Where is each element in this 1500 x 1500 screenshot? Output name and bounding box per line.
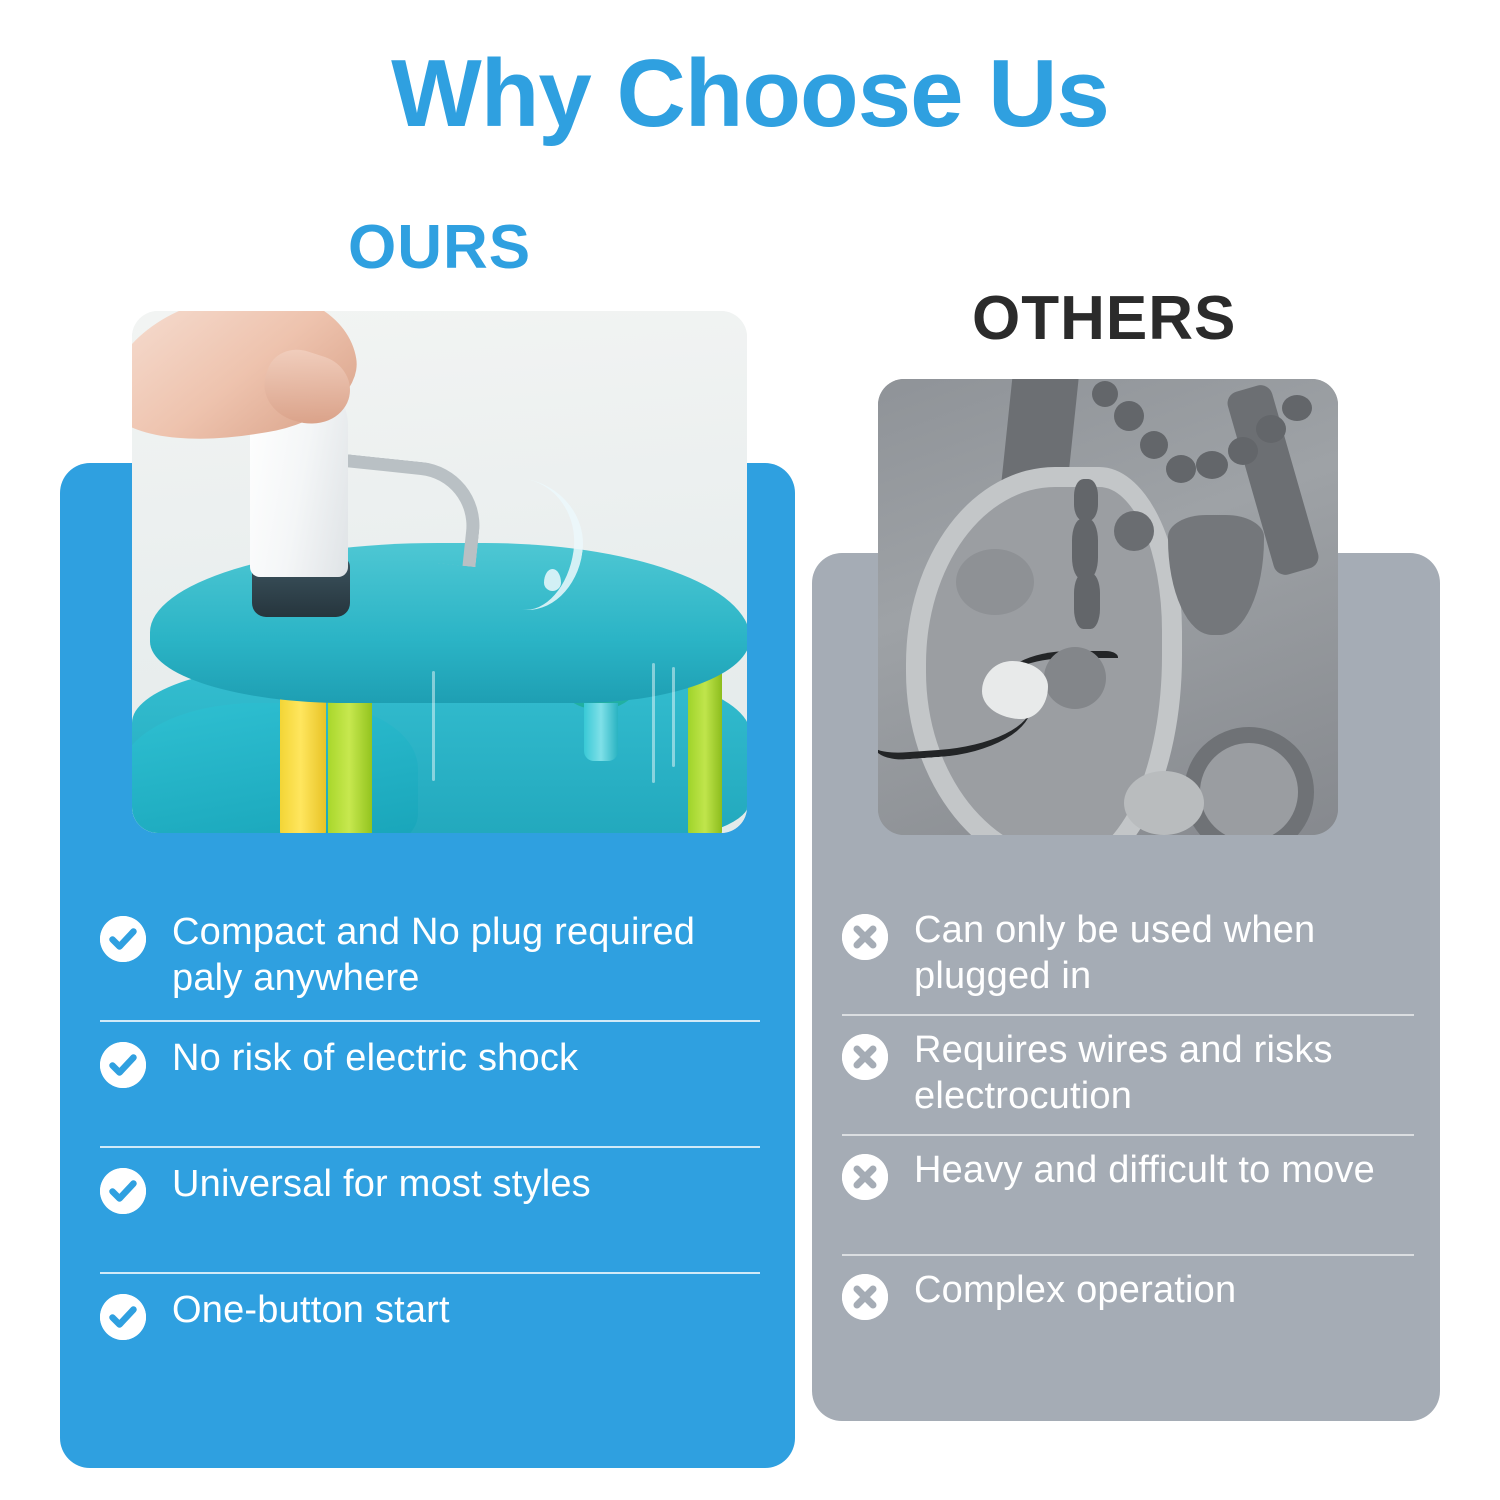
bead-chain-link (1092, 381, 1118, 407)
water-streak (672, 667, 675, 767)
bead-chain-link (1074, 573, 1100, 629)
feature-label: No risk of electric shock (172, 1036, 578, 1082)
page-title: Why Choose Us (0, 42, 1500, 146)
feature-label: Requires wires and risks electrocution (914, 1028, 1414, 1119)
list-item: No risk of electric shock (100, 1022, 760, 1146)
water-streak (432, 671, 435, 781)
feature-label: One-button start (172, 1288, 450, 1334)
comparison-infographic: Why Choose Us OURS OTHERS (0, 0, 1500, 1500)
toy-post-green-right (688, 663, 722, 833)
check-icon (100, 1168, 146, 1214)
list-item: Universal for most styles (100, 1148, 760, 1272)
feature-label: Can only be used when plugged in (914, 908, 1414, 999)
ours-column-heading: OURS (348, 217, 531, 279)
water-streak (652, 663, 655, 783)
cross-icon (842, 1154, 888, 1200)
water-droplet (544, 569, 561, 591)
bead-chain-link (1166, 455, 1196, 483)
feature-label: Complex operation (914, 1268, 1236, 1314)
list-item: One-button start (100, 1274, 760, 1398)
cross-icon (842, 1274, 888, 1320)
bead-chain-link (1140, 431, 1168, 459)
list-item: Requires wires and risks electrocution (842, 1016, 1414, 1134)
others-product-photo (878, 379, 1338, 835)
toy-flower (982, 661, 1048, 719)
toy-piece (1124, 771, 1204, 835)
list-item: Complex operation (842, 1256, 1414, 1374)
check-icon (100, 916, 146, 962)
bead-chain-link (1114, 401, 1144, 431)
others-feature-list: Can only be used when plugged in Require… (842, 896, 1414, 1374)
bead-chain-link (1072, 519, 1098, 579)
toy-piece (956, 549, 1034, 615)
list-item: Can only be used when plugged in (842, 896, 1414, 1014)
list-item: Compact and No plug required paly anywhe… (100, 896, 760, 1020)
bead-chain-link (1074, 479, 1098, 521)
ours-product-photo (132, 311, 747, 833)
bead-chain-link (1228, 437, 1258, 465)
feature-label: Universal for most styles (172, 1162, 591, 1208)
others-column-heading: OTHERS (972, 288, 1236, 350)
check-icon (100, 1042, 146, 1088)
feature-label: Heavy and difficult to move (914, 1148, 1375, 1194)
water-table-basin (132, 703, 418, 833)
ours-feature-list: Compact and No plug required paly anywhe… (100, 896, 760, 1398)
cross-icon (842, 1034, 888, 1080)
toy-funnel-stem (584, 703, 618, 761)
feature-label: Compact and No plug required paly anywhe… (172, 910, 760, 1001)
bead-chain-link (1196, 451, 1228, 479)
toy-knob (1114, 511, 1154, 551)
cross-icon (842, 914, 888, 960)
water-table-top-tray (150, 543, 747, 703)
check-icon (100, 1294, 146, 1340)
bead-chain-link (1256, 415, 1286, 443)
toy-ball (1044, 647, 1106, 709)
list-item: Heavy and difficult to move (842, 1136, 1414, 1254)
bead-chain-link (1282, 395, 1312, 421)
